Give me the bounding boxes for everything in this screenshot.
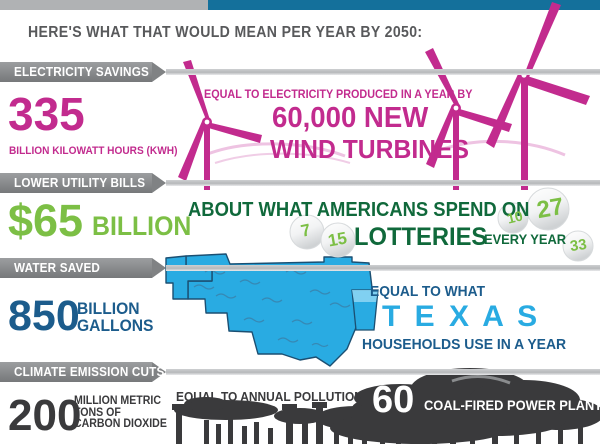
callout-lottery-big: LOTTERIES — [354, 225, 487, 250]
lottery-ball-number-3: 10 — [506, 208, 525, 225]
page-title: HERE'S WHAT THAT WOULD MEAN PER YEAR BY … — [28, 24, 422, 42]
stat-value-electricity: 335 — [8, 96, 85, 134]
callout-coal-top: EQUAL TO ANNUAL POLLUTION FROM — [176, 390, 401, 403]
banner-rule — [166, 69, 600, 75]
callout-coal-tail: COAL-FIRED POWER PLANTS — [424, 398, 600, 412]
section-label: WATER SAVED — [14, 260, 100, 275]
callout-texas-top: EQUAL TO WHAT — [370, 284, 485, 299]
callout-lottery-tail: EVERY YEAR — [484, 232, 566, 246]
lottery-ball-number-1: 7 — [299, 221, 312, 240]
banner-arrow-tip — [152, 173, 166, 193]
stat-unit-electricity: BILLION KILOWATT HOURS (KWH) — [9, 146, 177, 157]
callout-lottery-top: ABOUT WHAT AMERICANS SPEND ON — [188, 200, 529, 220]
callout-electricity-top: EQUAL TO ELECTRICITY PRODUCED IN A YEAR … — [204, 88, 472, 100]
section-banner-lower-utility-bills: LOWER UTILITY BILLS — [0, 173, 600, 193]
section-banner-electricity-savings: ELECTRICITY SAVINGS — [0, 62, 600, 82]
banner-rule — [166, 180, 600, 186]
banner-rule — [166, 369, 600, 375]
section-label: LOWER UTILITY BILLS — [14, 175, 145, 190]
callout-coal-big: 60 — [372, 381, 414, 419]
stat-unit-water: BILLION GALLONS — [77, 300, 153, 335]
stat-unit-utility: BILLION — [92, 215, 191, 237]
header-bar-right — [208, 0, 600, 10]
wind-turbine-right — [486, 2, 590, 190]
banner-rule — [166, 265, 600, 271]
callout-electricity-big: 60,000 NEW — [272, 104, 428, 133]
stat-value-utility: $65 — [8, 203, 83, 240]
stat-value-climate: 200 — [8, 398, 81, 434]
section-label: CLIMATE EMISSION CUTS — [14, 364, 164, 379]
callout-texas-bottom: HOUSEHOLDS USE IN A YEAR — [362, 337, 566, 352]
banner-arrow-tip — [152, 62, 166, 82]
stat-unit-climate: MILLION METRIC TONS OF CARBON DIOXIDE — [74, 396, 167, 431]
callout-electricity-big2: WIND TURBINES — [270, 136, 469, 162]
infographic-canvas: HERE'S WHAT THAT WOULD MEAN PER YEAR BY … — [0, 0, 600, 444]
lottery-ball-number-4: 27 — [535, 195, 565, 223]
lottery-ball-number-5: 33 — [569, 237, 588, 254]
lottery-ball-number-2: 15 — [327, 229, 349, 249]
section-label: ELECTRICITY SAVINGS — [14, 64, 149, 79]
callout-texas-big: T E X A S — [382, 302, 540, 332]
section-banner-climate-emission-cuts: CLIMATE EMISSION CUTS — [0, 362, 600, 382]
section-banner-water-saved: WATER SAVED — [0, 258, 600, 278]
stat-value-water: 850 — [8, 299, 80, 334]
header-bar-left — [0, 0, 208, 10]
banner-arrow-tip — [152, 258, 166, 278]
